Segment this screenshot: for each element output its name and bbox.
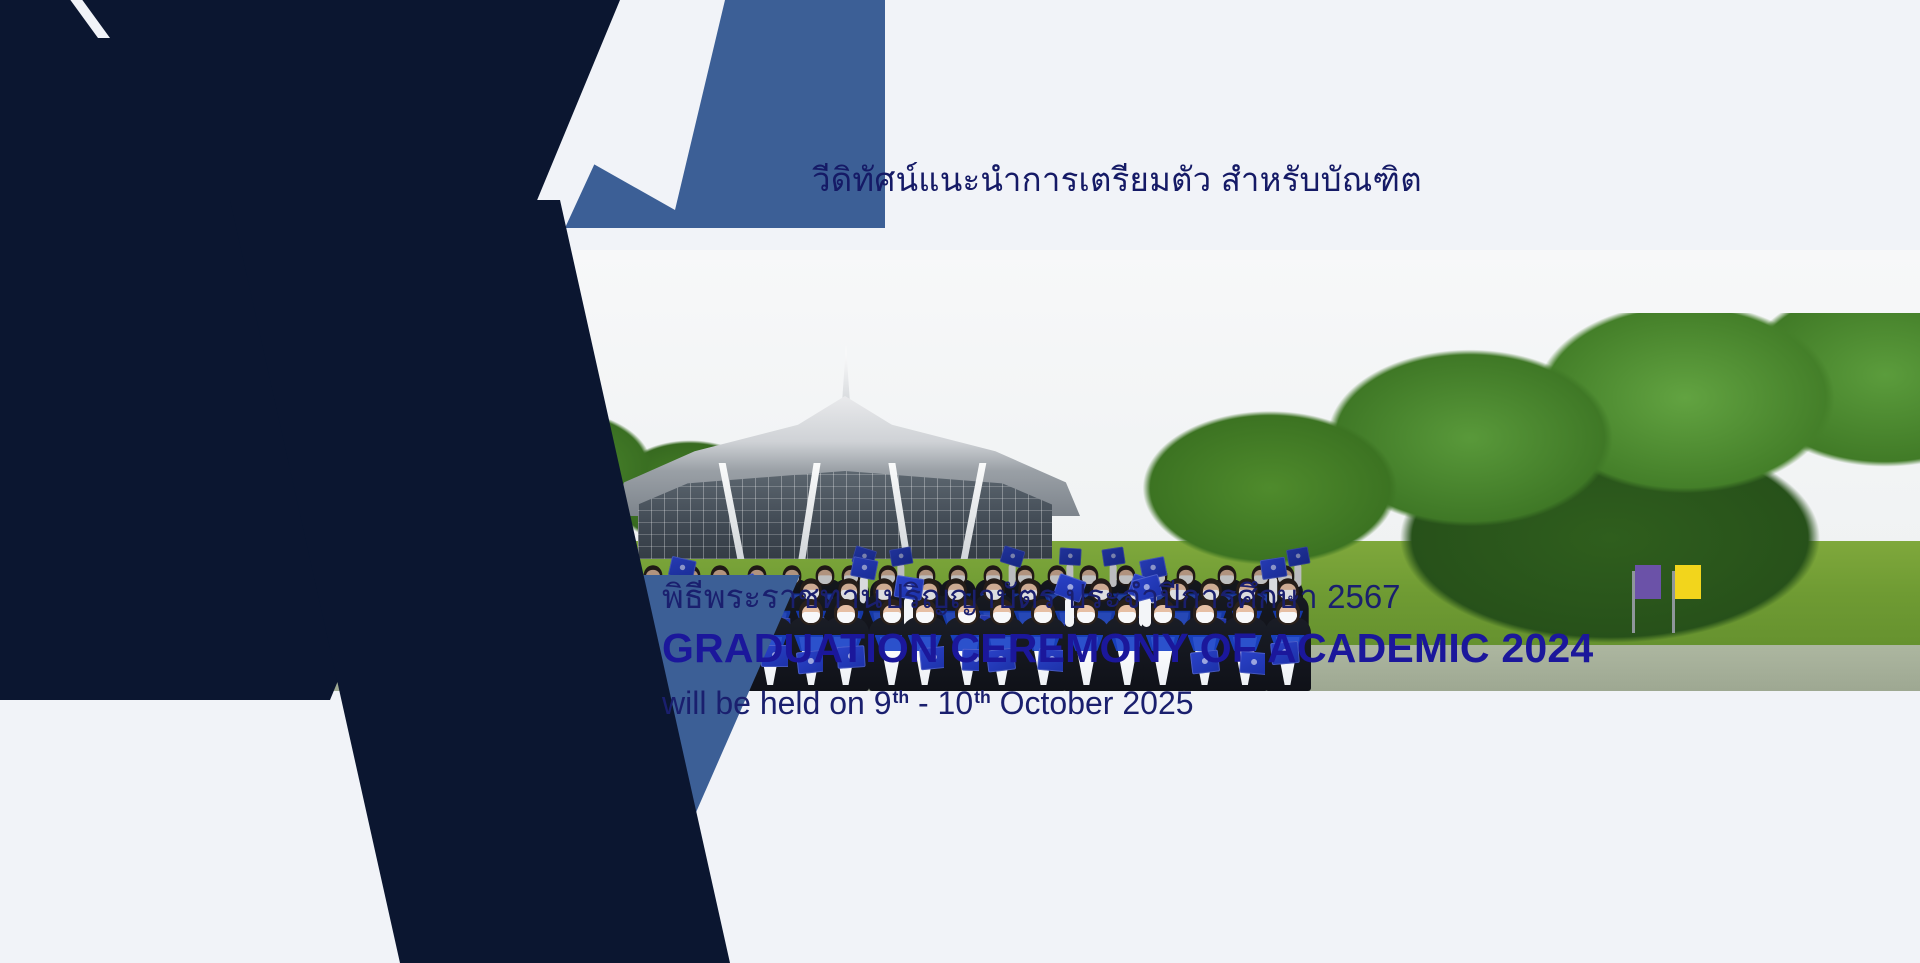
date-middle: - 10 xyxy=(909,685,973,721)
top-caption-thai: วีดิทัศน์แนะนำการเตรียมตัว สำหรับบัณฑิต xyxy=(812,153,1422,206)
graduation-banner: วีดิทัศน์แนะนำการเตรียมตัว สำหรับบัณฑิต … xyxy=(0,0,1920,963)
date-ordinal-second: th xyxy=(974,687,991,707)
building-glass-facade xyxy=(638,471,1052,559)
convention-hall-building xyxy=(610,371,1080,571)
top-light-panel xyxy=(760,0,1920,250)
date-suffix: October 2025 xyxy=(991,685,1194,721)
bottom-caption-block: พิธีพระราชทานปริญญาบัตร ประจำปีการศึกษา … xyxy=(662,576,1842,723)
diploma-folder xyxy=(1102,547,1126,567)
ceremony-date-line: will be held on 9th - 10th October 2025 xyxy=(662,684,1842,722)
date-ordinal-first: th xyxy=(892,687,909,707)
ceremony-english-title: GRADUATION CEREMONY OF ACADEMIC 2024 xyxy=(662,625,1842,672)
bottom-light-panel xyxy=(0,691,1920,963)
date-prefix: will be held on 9 xyxy=(662,685,891,721)
ceremony-thai-line: พิธีพระราชทานปริญญาบัตร ประจำปีการศึกษา … xyxy=(662,576,1842,617)
